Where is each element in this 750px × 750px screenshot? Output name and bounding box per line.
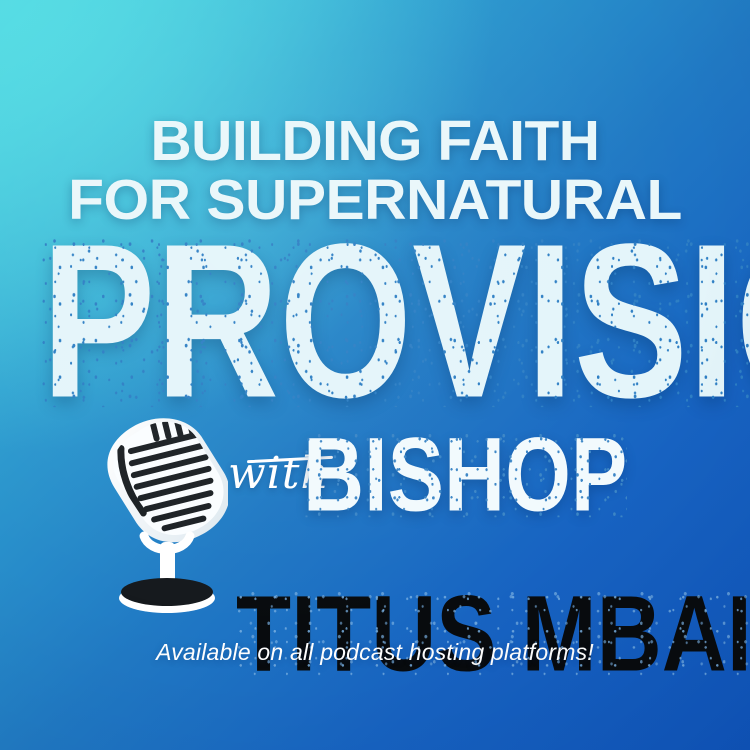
vintage-microphone-icon (106, 418, 228, 614)
host-title-bishop: BISHOP (303, 431, 627, 517)
feature-word-provision: PROVISION (41, 236, 750, 407)
mic-base (121, 578, 213, 606)
feature-word-text: PROVISION (41, 199, 750, 443)
availability-tagline: Available on all podcast hosting platfor… (0, 639, 750, 666)
headline-line-1: BUILDING FAITH (0, 113, 750, 170)
feature-word-container: PROVISION (0, 236, 750, 396)
podcast-cover-artwork: BUILDING FAITH FOR SUPERNATURAL PROVISIO… (0, 0, 750, 750)
host-name-text: TITUS MBAI (236, 573, 750, 694)
host-title-text: BISHOP (303, 415, 627, 533)
